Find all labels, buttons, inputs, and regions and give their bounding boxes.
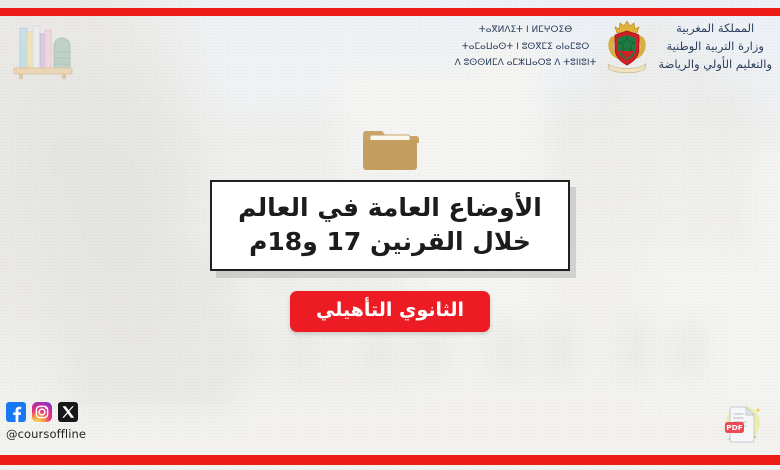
x-twitter-icon[interactable] (58, 402, 78, 422)
facebook-icon[interactable] (6, 402, 26, 422)
ministry-line-1: المملكة المغربية (658, 20, 772, 38)
pdf-label: PDF (726, 423, 743, 432)
ministry-lockup: المملكة المغربية وزارة التربية الوطنية و… (449, 18, 772, 76)
social-handle: @coursoffline (6, 427, 86, 441)
lesson-title-line-2: خلال القرنين 17 و18م (238, 225, 542, 259)
ministry-line-2: وزارة التربية الوطنية (658, 38, 772, 56)
poster-canvas: المملكة المغربية وزارة التربية الوطنية و… (0, 0, 780, 470)
folder-icon (361, 128, 419, 172)
morocco-coat-of-arms-icon (604, 18, 650, 76)
lesson-hero: الأوضاع العامة في العالم خلال القرنين 17… (0, 128, 780, 332)
social-block: @coursoffline (6, 402, 86, 441)
ministry-name-tifinagh: ⵜⴰⴳⵍⴷⵉⵜ ⵏ ⵍⵎⵖⵔⵉⴱ ⵜⴰⵎⴰⵡⴰⵙⵜ ⵏ ⵓⵙⴳⵎⵉ ⴰⵏⴰⵎⵓⵔ… (449, 22, 597, 72)
instagram-icon[interactable] (32, 402, 52, 422)
bottom-red-rule (0, 455, 780, 465)
header: المملكة المغربية وزارة التربية الوطنية و… (0, 16, 780, 92)
ministry-name-arabic: المملكة المغربية وزارة التربية الوطنية و… (658, 20, 772, 73)
tifinagh-line-2: ⵜⴰⵎⴰⵡⴰⵙⵜ ⵏ ⵓⵙⴳⵎⵉ ⴰⵏⴰⵎⵓⵔ (455, 39, 597, 56)
pdf-file-icon[interactable]: PDF (718, 402, 764, 448)
ministry-line-3: والتعليم الأولي والرياضة (658, 56, 772, 74)
lesson-title-card: الأوضاع العامة في العالم خلال القرنين 17… (210, 180, 570, 271)
books-logo-icon (8, 20, 74, 82)
tifinagh-line-3: ⴷ ⵓⵙⵙⵍⵎⴷ ⴰⵎⵣⵡⴰⵔⵓ ⴷ ⵜⵓⵏⵏⵓⵏⵜ (455, 55, 597, 72)
lesson-title-line-1: الأوضاع العامة في العالم (238, 191, 542, 225)
level-badge[interactable]: الثانوي التأهيلي (290, 291, 490, 332)
tifinagh-line-1: ⵜⴰⴳⵍⴷⵉⵜ ⵏ ⵍⵎⵖⵔⵉⴱ (455, 22, 597, 39)
top-red-rule (0, 8, 780, 16)
